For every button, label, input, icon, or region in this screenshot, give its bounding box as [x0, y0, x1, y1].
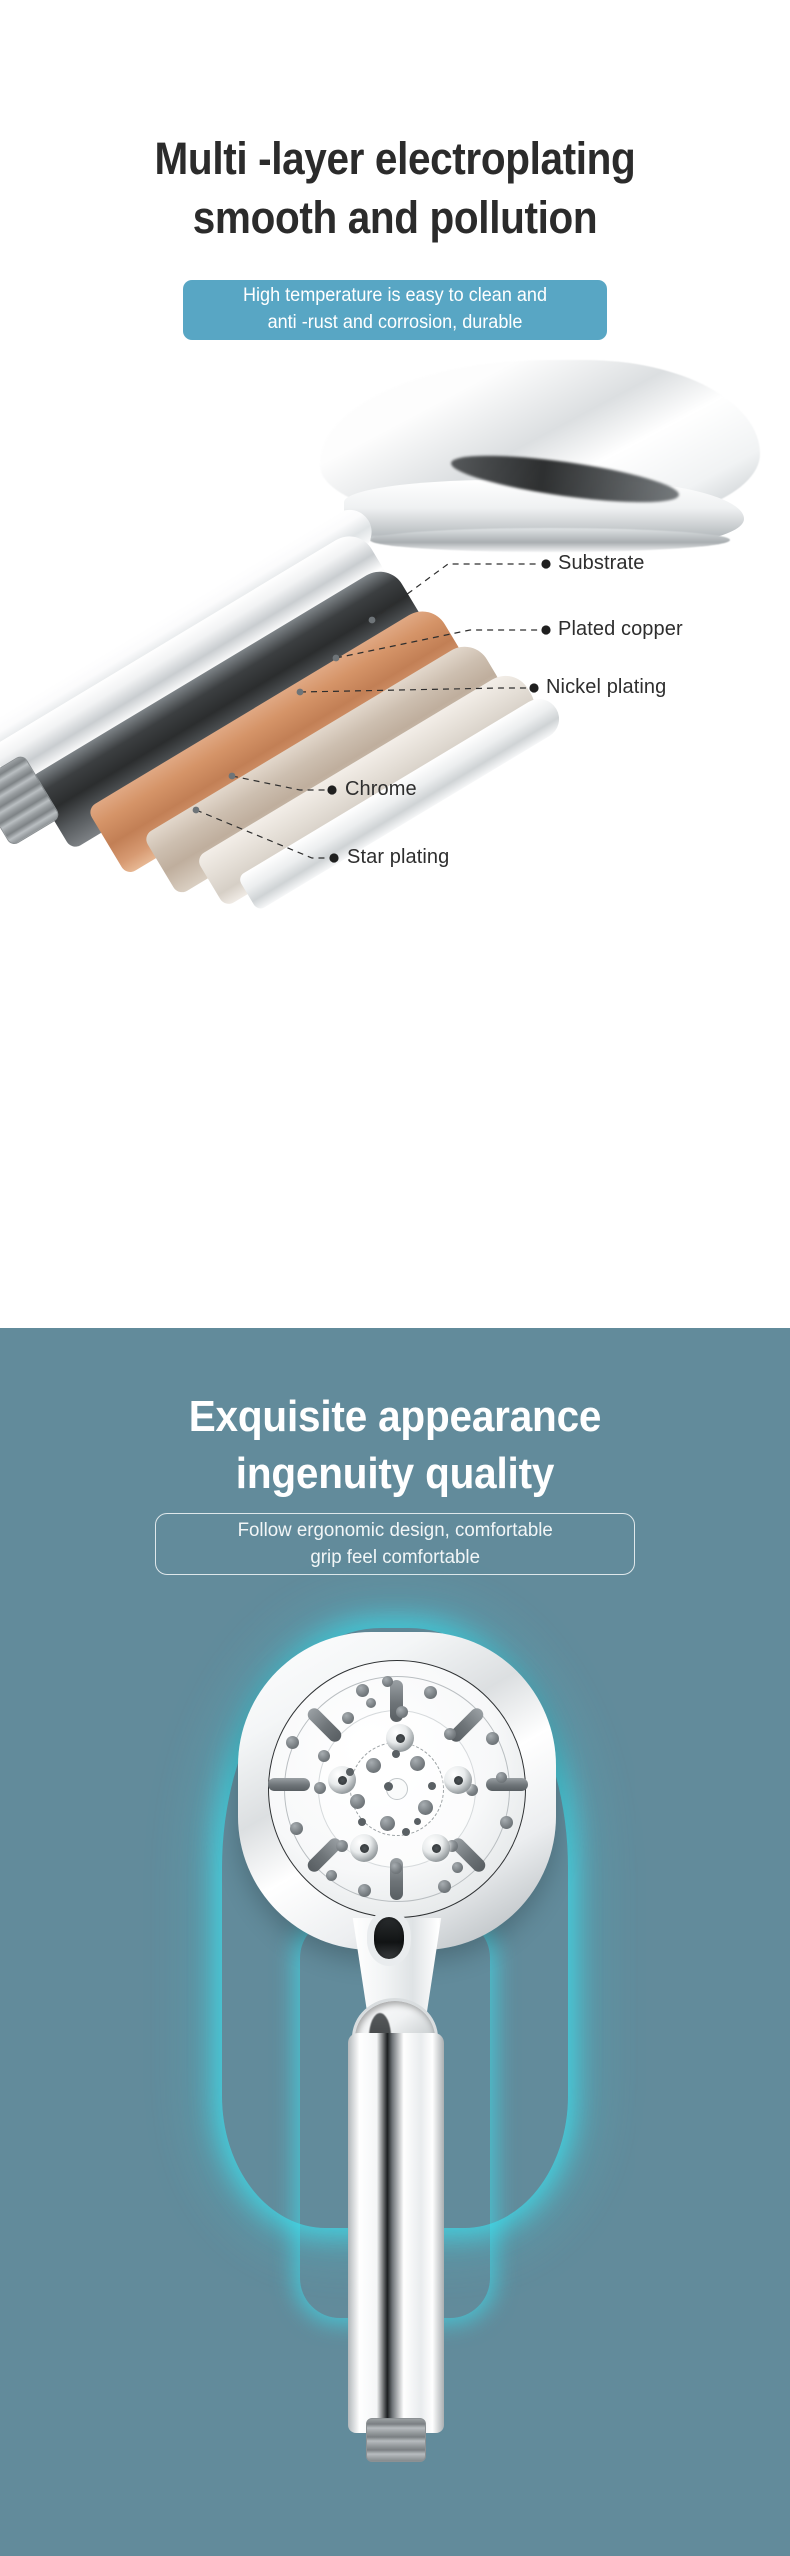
callout-leader-lines [0, 340, 790, 1020]
center-nozzle-small [414, 1818, 421, 1825]
nozzle [314, 1782, 326, 1794]
center-nozzle [418, 1800, 433, 1815]
massage-jet [350, 1834, 378, 1862]
hose-connector-thread [366, 2418, 426, 2462]
center-nozzle-small [402, 1828, 410, 1836]
section2-badge-text: Follow ergonomic design, comfortable gri… [237, 1517, 552, 1572]
section-multilayer-electroplating: Multi -layer electroplating smooth and p… [0, 0, 790, 1328]
nozzle [342, 1712, 354, 1724]
center-nozzle [410, 1756, 425, 1771]
massage-jet [386, 1724, 414, 1752]
section2-heading-line1: Exquisite appearance [189, 1392, 602, 1441]
nozzle [424, 1686, 437, 1699]
nozzle [286, 1736, 299, 1749]
nozzle [382, 1676, 393, 1687]
section1-heading-line1: Multi -layer electroplating [155, 133, 636, 184]
section2-heading: Exquisite appearance ingenuity quality [32, 1388, 759, 1502]
section2-badge-line2: grip feel comfortable [237, 1544, 552, 1571]
nozzle [390, 1862, 402, 1874]
center-nozzle-small [358, 1818, 366, 1826]
callout-label-chrome: Chrome [345, 778, 417, 801]
section2-heading-line2: ingenuity quality [236, 1449, 554, 1498]
product-handheld-shower-image [0, 1618, 790, 2548]
nozzle [452, 1862, 463, 1873]
nozzle [444, 1728, 456, 1740]
callout-label-nickel-plating: Nickel plating [546, 676, 666, 699]
center-nozzle-small [384, 1782, 393, 1791]
nozzle [438, 1880, 451, 1893]
shower-head-face [238, 1632, 556, 1950]
section-exquisite-appearance: Exquisite appearance ingenuity quality F… [0, 1328, 790, 2556]
center-nozzle [366, 1758, 381, 1773]
nozzle [356, 1684, 369, 1697]
nozzle [290, 1822, 303, 1835]
section2-badge-line1: Follow ergonomic design, comfortable [237, 1517, 552, 1544]
callout-label-star-plating: Star plating [347, 846, 449, 869]
callout-group: Substrate Plated copper Nickel plating C… [0, 340, 790, 1020]
hanging-hook [367, 1910, 411, 1966]
massage-jet [422, 1834, 450, 1862]
shower-handle-grip [348, 2033, 444, 2433]
center-nozzle [350, 1794, 365, 1809]
nozzle [326, 1870, 337, 1881]
nozzle [358, 1884, 371, 1897]
nozzle [396, 1706, 408, 1718]
nozzle [336, 1840, 348, 1852]
massage-jet [444, 1766, 472, 1794]
nozzle-slot [268, 1778, 310, 1791]
nozzle [496, 1772, 507, 1783]
nozzle-slot [486, 1778, 528, 1791]
nozzle [486, 1732, 499, 1745]
callout-label-substrate: Substrate [558, 552, 645, 575]
center-nozzle-small [346, 1768, 354, 1776]
callout-label-plated-copper: Plated copper [558, 618, 683, 641]
nozzle [366, 1698, 376, 1708]
section2-badge: Follow ergonomic design, comfortable gri… [155, 1513, 635, 1575]
center-nozzle-small [392, 1750, 400, 1758]
center-nozzle-small [428, 1782, 436, 1790]
nozzle [500, 1816, 513, 1829]
center-nozzle [380, 1816, 395, 1831]
nozzle [318, 1750, 330, 1762]
